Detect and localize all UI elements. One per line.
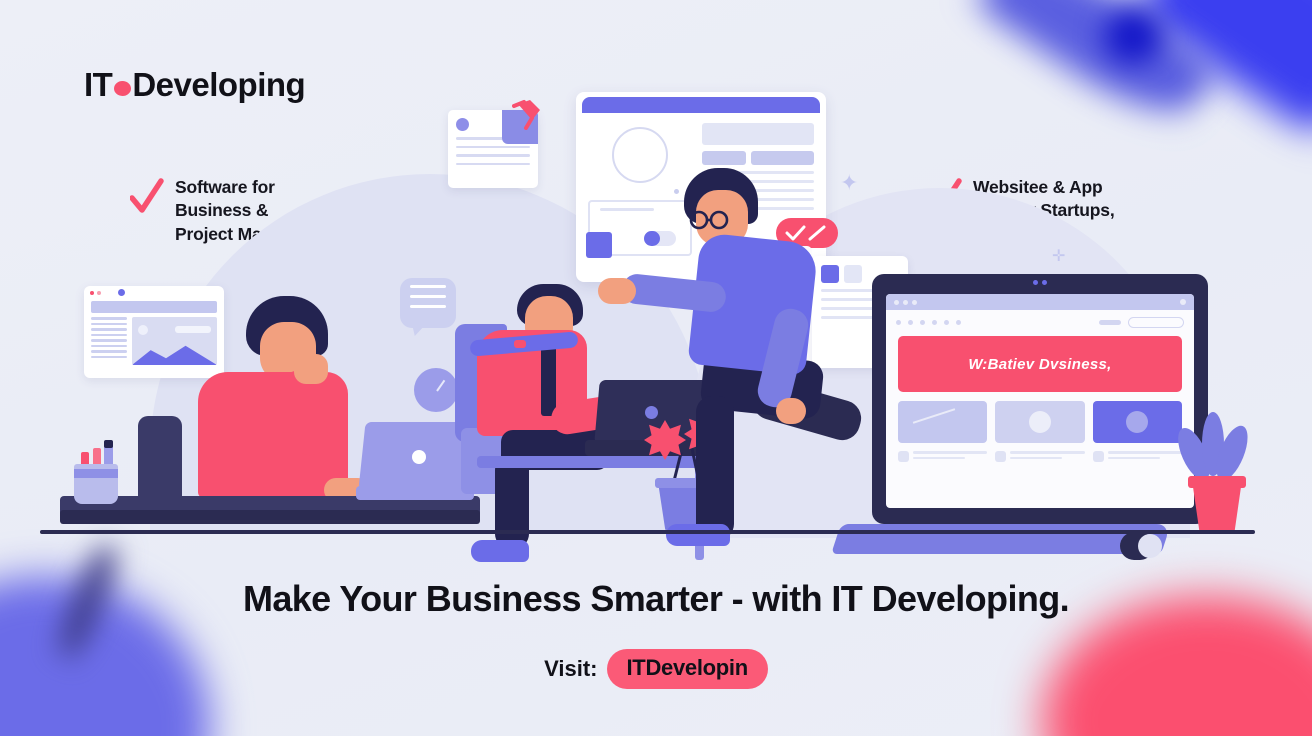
browser-titlebar	[886, 294, 1194, 310]
sparkle-icon: ✛	[1052, 246, 1065, 266]
browser-card-textlines	[91, 317, 127, 365]
website-card	[898, 401, 987, 443]
laptop-logo-icon	[412, 450, 426, 464]
person-hand	[776, 398, 806, 424]
poster-canvas: IT Developing Software for Business & Pr…	[0, 0, 1312, 736]
page-title: Make Your Business Smarter - with IT Dev…	[0, 578, 1312, 620]
person-shoe	[666, 524, 730, 546]
website-card	[995, 401, 1084, 443]
cta-row: Visit: ITDevelopin	[0, 649, 1312, 689]
illustration-person-left	[190, 296, 490, 526]
pointer-device-light	[514, 340, 526, 348]
person-shoe	[471, 540, 529, 562]
floor-line	[40, 530, 1255, 534]
hero-illustration: ✦ ✛ ·	[0, 78, 1312, 528]
monitor-foot-ball	[1138, 534, 1162, 558]
monitor-screen: W:Batiev Dvsiness,	[886, 294, 1194, 508]
person-shin	[495, 456, 529, 548]
website-list-item	[995, 451, 1084, 462]
app-window-titlebar	[582, 97, 820, 113]
website-card	[1093, 401, 1182, 443]
person-leg	[696, 396, 734, 540]
website-list-row	[886, 443, 1194, 462]
note-card-avatar	[456, 118, 469, 131]
browser-toolbar	[886, 310, 1194, 332]
person-tie	[541, 340, 556, 416]
pencil-cup-icon	[74, 450, 118, 504]
laptop-logo-icon	[645, 406, 658, 419]
monitor-camera-icon	[1033, 280, 1047, 285]
glasses-icon	[688, 210, 732, 230]
website-list-item	[898, 451, 987, 462]
person-hand	[294, 354, 328, 384]
potted-plant-icon	[1176, 408, 1256, 532]
pin-icon	[512, 98, 546, 130]
illustration-person-standing	[660, 168, 880, 538]
person-hand-pointing	[598, 278, 636, 304]
website-list-item	[1093, 451, 1182, 462]
cta-pill-button[interactable]: ITDevelopin	[607, 649, 768, 689]
website-hero-banner-text: W:Batiev Dvsiness,	[968, 356, 1111, 373]
desk-edge	[60, 510, 480, 524]
blurred-pen-nib-decor	[1104, 8, 1162, 64]
cta-label: Visit:	[544, 656, 597, 682]
website-hero-banner: W:Batiev Dvsiness,	[898, 336, 1182, 392]
desktop-monitor: W:Batiev Dvsiness,	[872, 274, 1208, 524]
website-card-row	[886, 392, 1194, 443]
